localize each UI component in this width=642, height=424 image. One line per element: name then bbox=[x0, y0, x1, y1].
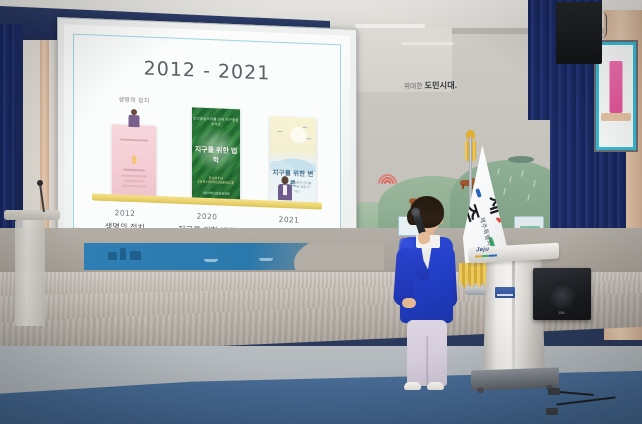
book-cover-2021: 지구를 위한 변론 자연의 권리를 위한 법정 이야기 bbox=[270, 117, 316, 205]
stage-face-mural bbox=[84, 243, 384, 270]
screen-surface: 2012 - 2021 생명의 정치 bbox=[64, 24, 350, 248]
projection-screen: 2012 - 2021 생명의 정치 bbox=[57, 17, 357, 256]
wall-slogan-bold: 도민시대. bbox=[425, 81, 458, 90]
book2-cover-title: 지구를 위한 법학 bbox=[192, 145, 240, 167]
book1-cover-title: 생명의 정치 bbox=[90, 93, 178, 106]
book1-rule bbox=[121, 175, 147, 178]
mural-skyline bbox=[108, 248, 148, 260]
presentation-slide: 2012 - 2021 생명의 정치 bbox=[73, 34, 341, 240]
poster-base-bar bbox=[601, 113, 631, 121]
speaker-cone bbox=[549, 282, 575, 308]
podium-main-emblem bbox=[495, 287, 515, 298]
presenter-trousers bbox=[407, 320, 447, 386]
presenter-left-hand bbox=[402, 298, 416, 308]
book1-rule bbox=[123, 169, 145, 171]
flag-logo-text: 제주 bbox=[465, 191, 518, 234]
wall-speaker bbox=[556, 2, 602, 64]
framed-poster bbox=[596, 42, 636, 150]
book3-bird bbox=[303, 127, 307, 129]
ceiling-light bbox=[402, 42, 454, 45]
podium-main-base bbox=[471, 367, 559, 390]
cable-connector bbox=[548, 388, 560, 395]
wall-slogan: 위대한 도민시대. bbox=[404, 80, 490, 91]
wall-slogan-prefix: 위대한 bbox=[404, 83, 425, 90]
microphone-icon bbox=[37, 180, 43, 186]
book3-bird bbox=[307, 138, 311, 140]
book3-sun bbox=[291, 127, 306, 143]
book1-flame-mark bbox=[132, 155, 137, 164]
floor-speaker-box: JBL bbox=[533, 268, 591, 320]
caption-year: 2012 bbox=[84, 207, 166, 219]
podium-caster bbox=[477, 387, 484, 393]
book2-publisher: 서울대학교출판문화원 bbox=[192, 190, 240, 196]
presenter-shoe bbox=[404, 382, 421, 390]
book2-english-title: EARTH JURISPRUDENCE bbox=[192, 175, 240, 185]
book3-bird bbox=[278, 131, 282, 133]
book1-rule bbox=[122, 185, 146, 187]
podium-left-top bbox=[4, 210, 60, 220]
auditorium-scene: 위대한 도민시대. 2012 - 2021 bbox=[0, 0, 642, 424]
book-cover-2020: 인간중심주의를 넘어 지구중심주의로 지구를 위한 법학 EARTH JURIS… bbox=[192, 107, 240, 201]
book3-cover-subtitle: 자연의 권리를 위한 법정 이야기 bbox=[294, 180, 312, 194]
book3-figure bbox=[278, 176, 292, 201]
flag-logo-blue-bar bbox=[475, 188, 482, 198]
book1-rule bbox=[124, 180, 144, 182]
book1-figure bbox=[128, 109, 140, 127]
podium-main-label: Jeju bbox=[476, 247, 489, 254]
podium-left-body bbox=[15, 220, 45, 326]
slide-title: 2012 - 2021 bbox=[74, 55, 340, 88]
ceiling-light bbox=[355, 24, 425, 28]
book-cover-2012: 생명의 정치 bbox=[112, 124, 156, 198]
speaker-brand-label: JBL bbox=[558, 310, 566, 315]
podium-left[interactable] bbox=[4, 210, 60, 330]
cable-connector bbox=[546, 408, 558, 415]
mural-boat bbox=[259, 258, 273, 261]
mural-boat bbox=[204, 259, 218, 262]
book1-rule bbox=[120, 139, 148, 142]
presenter-shoe bbox=[427, 382, 444, 390]
book-cover-row: 생명의 정치 인간중심주의를 넘어 지구중심주의로 bbox=[88, 90, 326, 205]
caption-year: 2021 bbox=[248, 214, 330, 226]
poster-graphic bbox=[610, 61, 623, 113]
caption-year: 2020 bbox=[166, 210, 248, 222]
mural-wifi-icon bbox=[382, 168, 404, 188]
book2-overline: 인간중심주의를 넘어 지구중심주의로 bbox=[192, 116, 240, 128]
mural-wave bbox=[294, 243, 384, 270]
presenter bbox=[385, 196, 465, 394]
